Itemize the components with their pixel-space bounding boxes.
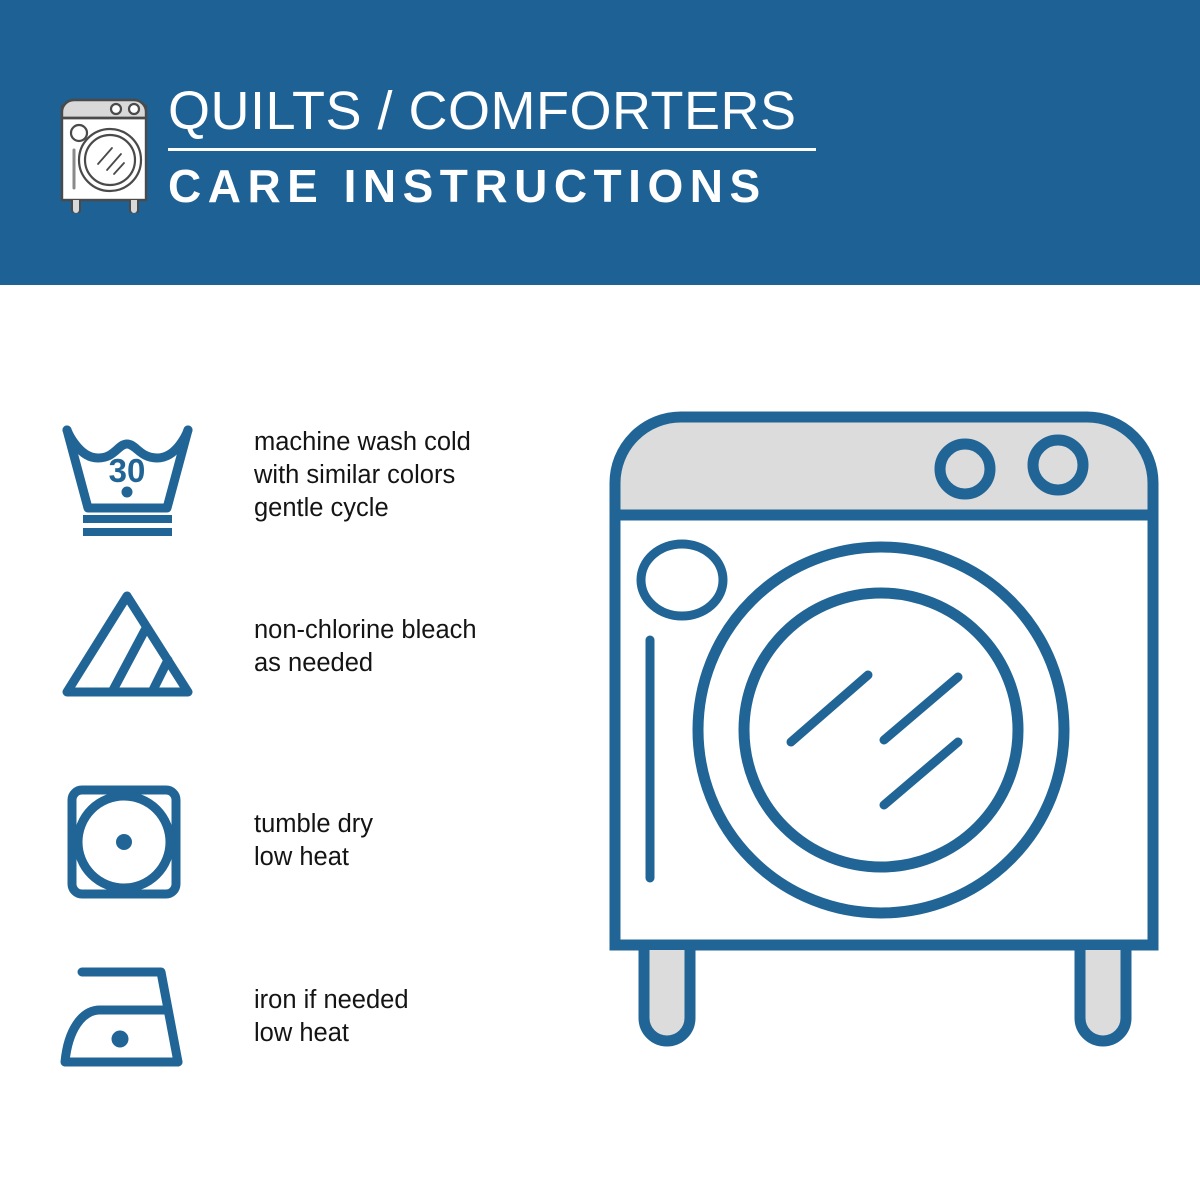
- header-text-block: QUILTS / COMFORTERS CARE INSTRUCTIONS: [168, 80, 828, 212]
- care-row-bleach: non-chlorine bleach as needed: [0, 588, 520, 708]
- washing-machine-illustration: [596, 405, 1172, 1115]
- care-label-tumble-dry: tumble dry low heat: [254, 808, 373, 874]
- washer-dispenser-icon: [641, 544, 723, 616]
- care-label-wash: machine wash cold with similar colors ge…: [254, 426, 471, 525]
- page-subtitle: CARE INSTRUCTIONS: [168, 160, 828, 212]
- washing-machine-icon: [52, 78, 160, 213]
- infographic-page: QUILTS / COMFORTERS CARE INSTRUCTIONS 30…: [0, 0, 1200, 1200]
- washer-foot-right: [1080, 950, 1126, 1041]
- care-label-bleach: non-chlorine bleach as needed: [254, 614, 477, 680]
- title-divider: [168, 148, 816, 151]
- tumble-dry-icon: [60, 782, 205, 902]
- page-title: QUILTS / COMFORTERS: [168, 80, 828, 142]
- iron-dot-icon: [112, 1031, 129, 1048]
- care-label-iron: iron if needed low heat: [254, 984, 409, 1050]
- wash-temperature-value: 30: [109, 452, 146, 489]
- bleach-triangle-icon: [60, 588, 205, 708]
- header-banner: QUILTS / COMFORTERS CARE INSTRUCTIONS: [0, 0, 1200, 285]
- washer-knob-left: [940, 444, 990, 494]
- iron-icon: [60, 958, 205, 1078]
- care-row-tumble-dry: tumble dry low heat: [0, 782, 520, 902]
- care-row-wash: 30 machine wash cold with similar colors…: [0, 420, 520, 540]
- washer-knob-right: [1033, 440, 1083, 490]
- care-row-iron: iron if needed low heat: [0, 958, 520, 1078]
- washer-door-inner: [744, 593, 1018, 867]
- tumble-dry-dot-icon: [116, 834, 132, 850]
- wash-basin-icon: 30: [60, 420, 205, 540]
- wash-dot-icon: [122, 487, 133, 498]
- washer-foot-left: [644, 950, 690, 1041]
